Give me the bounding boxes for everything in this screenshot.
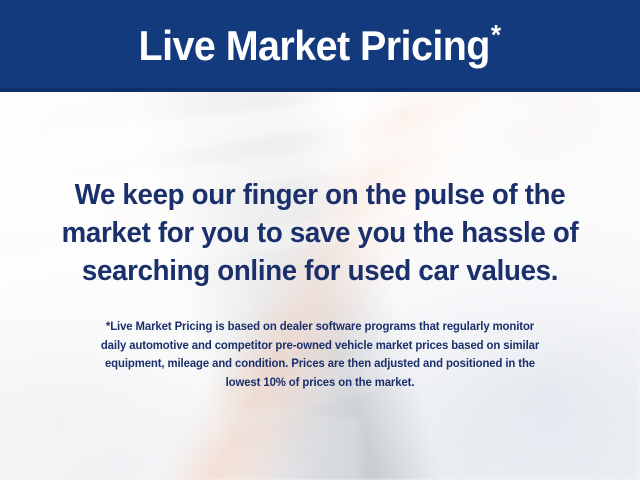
disclaimer-line-4: lowest 10% of prices on the market. xyxy=(27,374,613,393)
headline-line-2: market for you to save you the hassle of xyxy=(31,214,609,252)
disclaimer-line-2: daily automotive and competitor pre-owne… xyxy=(27,337,613,356)
headline-line-3: searching online for used car values. xyxy=(31,252,609,290)
page-title-text: Live Market Pricing xyxy=(139,22,490,69)
headline-block: We keep our finger on the pulse of the m… xyxy=(0,176,640,290)
page-title: Live Market Pricing* xyxy=(139,21,501,67)
disclaimer-block: *Live Market Pricing is based on dealer … xyxy=(0,318,640,392)
content-area: We keep our finger on the pulse of the m… xyxy=(0,92,640,480)
header-bar: Live Market Pricing* xyxy=(0,0,640,88)
headline-line-1: We keep our finger on the pulse of the xyxy=(31,176,609,214)
live-market-pricing-banner: Live Market Pricing* We keep our finger … xyxy=(0,0,640,480)
disclaimer-line-1: *Live Market Pricing is based on dealer … xyxy=(27,318,613,337)
page-title-asterisk: * xyxy=(491,19,501,50)
disclaimer-line-3: equipment, mileage and condition. Prices… xyxy=(27,355,613,374)
